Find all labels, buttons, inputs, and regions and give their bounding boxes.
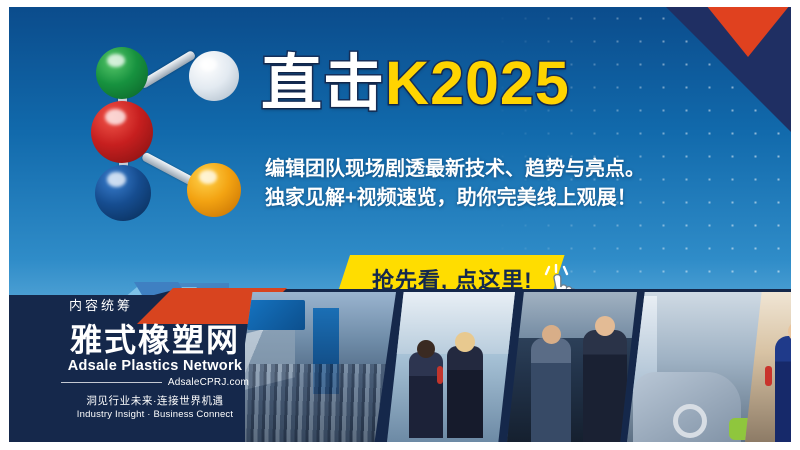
photo-welcome-kiosk bbox=[247, 300, 305, 330]
photo-person-4 bbox=[583, 330, 627, 442]
molecule-ball-green bbox=[96, 47, 148, 99]
tagline-cn: 洞见行业未来·连接世界机遇 bbox=[61, 393, 249, 408]
banner-stage: 直击K2025 编辑团队现场剧透最新技术、趋势与亮点。 独家见解+视频速览，助你… bbox=[9, 7, 791, 442]
photo-microphone-red bbox=[765, 366, 772, 386]
photo-booth-visitors bbox=[507, 292, 637, 442]
credit-label: 内容统筹 bbox=[61, 295, 249, 314]
subtitle-block: 编辑团队现场剧透最新技术、趋势与亮点。 独家见解+视频速览，助你完美线上观展！ bbox=[265, 155, 695, 213]
photo-car-seat-display bbox=[627, 292, 763, 442]
photo-crowd bbox=[245, 364, 396, 442]
subtitle-line-1: 编辑团队现场剧透最新技术、趋势与亮点。 bbox=[265, 155, 695, 184]
photo-reporter bbox=[775, 336, 791, 442]
adsale-en-logo: Adsale Plastics Network bbox=[61, 358, 249, 374]
title-k-part: K2025 bbox=[385, 49, 570, 117]
k-molecule-logo bbox=[61, 43, 251, 228]
divider-line bbox=[61, 382, 162, 383]
adsale-url[interactable]: AdsaleCPRJ.com bbox=[168, 377, 249, 388]
molecule-ball-blue bbox=[95, 165, 151, 221]
tagline-en: Industry Insight · Business Connect bbox=[61, 409, 249, 420]
photo-person-2 bbox=[447, 346, 483, 438]
photo-steering-wheel bbox=[673, 404, 707, 438]
molecule-ball-white bbox=[189, 51, 239, 101]
molecule-ball-orange bbox=[187, 163, 241, 217]
credit-block: 内容统筹 雅式橡塑网 Adsale Plastics Network Adsal… bbox=[61, 295, 249, 420]
photo-microphone bbox=[437, 366, 443, 384]
adsale-cn-logo: 雅式橡塑网 bbox=[61, 324, 249, 356]
photo-strip: of Plastics 8-15 OCTOBER The World's for… bbox=[245, 292, 791, 442]
photo-exhibition-hall bbox=[245, 292, 396, 442]
title-cn-part: 直击 bbox=[261, 49, 385, 117]
photo-person-1 bbox=[409, 352, 443, 438]
banner-frame: 直击K2025 编辑团队现场剧透最新技术、趋势与亮点。 独家见解+视频速览，助你… bbox=[0, 0, 800, 450]
photo-interview-two-women bbox=[387, 292, 515, 442]
credit-url-row: AdsaleCPRJ.com bbox=[61, 377, 249, 388]
molecule-ball-red bbox=[91, 101, 153, 163]
page-title: 直击K2025 bbox=[261, 53, 570, 114]
subtitle-line-2: 独家见解+视频速览，助你完美线上观展！ bbox=[265, 184, 695, 213]
photo-person-3 bbox=[531, 338, 571, 442]
